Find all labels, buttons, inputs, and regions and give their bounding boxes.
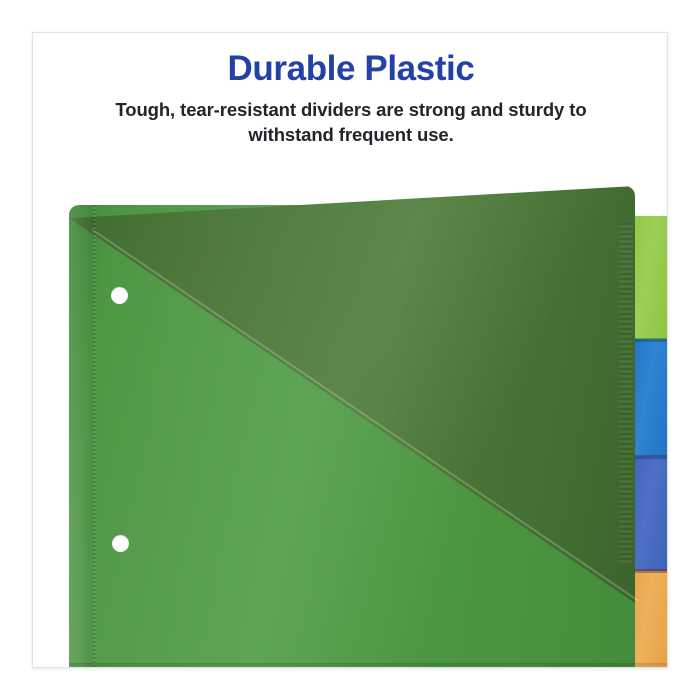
binding-edge-texture xyxy=(93,205,96,668)
product-feature-card: Durable Plastic Tough, tear-resistant di… xyxy=(32,32,668,668)
product-photo xyxy=(33,33,668,668)
divider-spine-texture xyxy=(619,223,633,563)
punch-hole-top xyxy=(111,287,128,304)
punch-hole-bottom xyxy=(112,535,129,552)
screenshot-stage: Durable Plastic Tough, tear-resistant di… xyxy=(0,0,700,700)
binding-reinforcement-strip xyxy=(69,205,95,668)
